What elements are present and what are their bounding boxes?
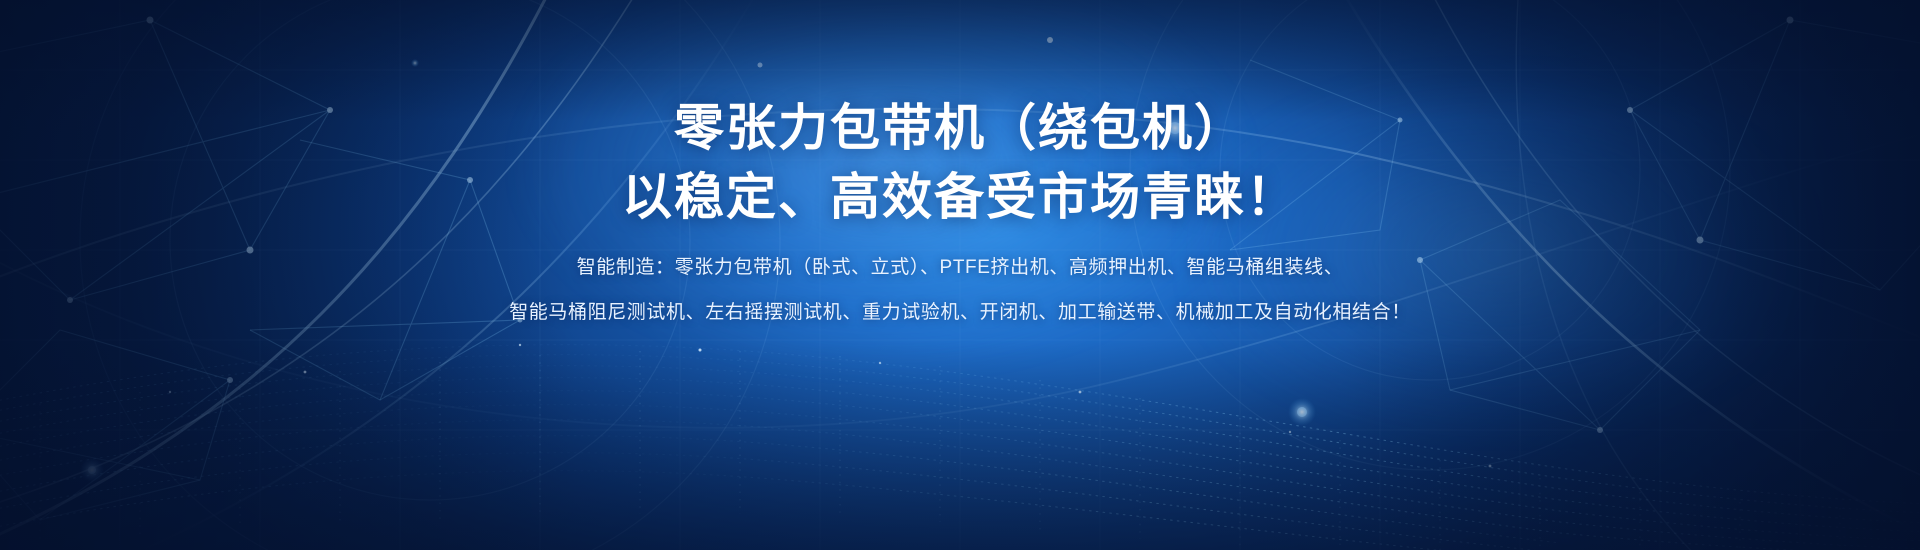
banner-title-line-2: 以稳定、高效备受市场青睐！ (0, 167, 1920, 228)
banner-subtitle-group: 智能制造：零张力包带机（卧式、立式）、PTFE挤出机、高频押出机、智能马桶组装线… (0, 258, 1920, 322)
hero-banner: 零张力包带机（绕包机） 以稳定、高效备受市场青睐！ 智能制造：零张力包带机（卧式… (0, 0, 1920, 550)
banner-title-line-1: 零张力包带机（绕包机） (0, 98, 1920, 159)
banner-subtitle-line-2: 智能马桶阻尼测试机、左右摇摆测试机、重力试验机、开闭机、加工输送带、机械加工及自… (0, 303, 1920, 322)
banner-content: 零张力包带机（绕包机） 以稳定、高效备受市场青睐！ 智能制造：零张力包带机（卧式… (0, 0, 1920, 322)
banner-subtitle-line-1: 智能制造：零张力包带机（卧式、立式）、PTFE挤出机、高频押出机、智能马桶组装线… (0, 258, 1920, 277)
